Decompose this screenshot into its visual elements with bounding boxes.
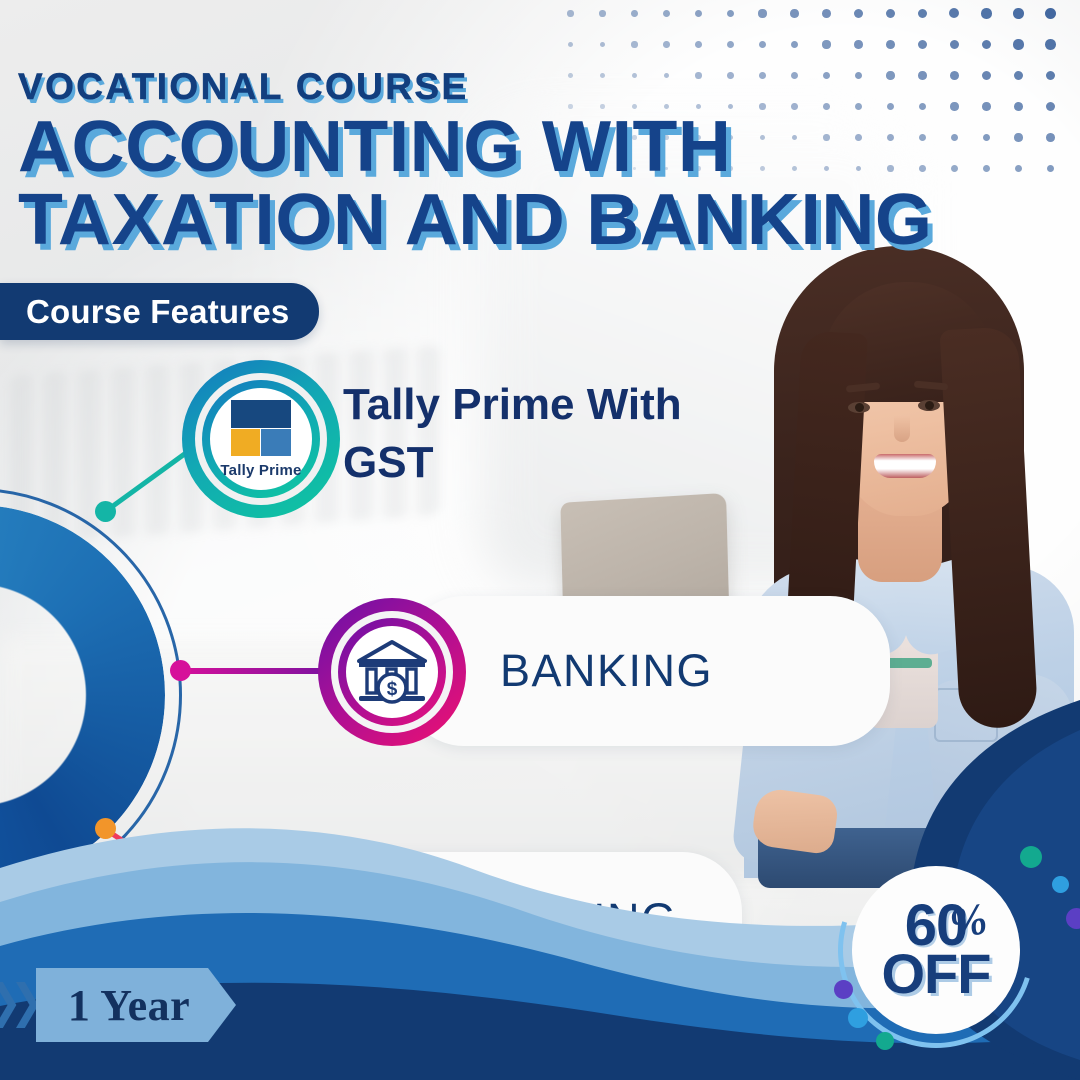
- connector-node-tally: [95, 501, 116, 522]
- page-title-line-2: TAXATION AND BANKING: [18, 185, 997, 256]
- tally-logo-caption: Tally Prime: [220, 462, 301, 479]
- course-poster: VOCATIONAL COURSE ACCOUNTING WITH TAXATI…: [0, 0, 1080, 1080]
- svg-text:$: $: [387, 679, 398, 700]
- connector-node-banking: [170, 660, 191, 681]
- bank-building-icon: $: [355, 639, 429, 705]
- feature-label-banking: BANKING: [500, 645, 713, 697]
- duration-label: 1 Year: [68, 980, 204, 1031]
- discount-off-label: OFF: [882, 950, 991, 998]
- feature-icon-tally-prime[interactable]: Tally Prime: [182, 360, 340, 518]
- badge-dot: [834, 980, 853, 999]
- tally-squares-icon: [231, 400, 291, 456]
- headline-block: VOCATIONAL COURSE ACCOUNTING WITH TAXATI…: [18, 66, 978, 257]
- discount-badge[interactable]: 60 OFF %: [838, 852, 1034, 1048]
- kicker-text: VOCATIONAL COURSE: [18, 66, 978, 108]
- feature-icon-banking[interactable]: $: [318, 598, 466, 746]
- course-features-heading: Course Features: [0, 283, 319, 340]
- page-title-line-1: ACCOUNTING WITH: [18, 112, 997, 183]
- badge-dot: [876, 1032, 894, 1050]
- badge-dot: [1066, 908, 1080, 929]
- feature-label-tally-prime: Tally Prime With GST: [343, 376, 763, 492]
- tally-prime-logo-icon: Tally Prime: [210, 388, 312, 490]
- badge-dot: [1020, 846, 1042, 868]
- connector-line-banking: [178, 668, 328, 674]
- badge-dot: [1052, 876, 1069, 893]
- badge-dot: [848, 1008, 868, 1028]
- duration-ribbon: 1 Year: [0, 968, 268, 1042]
